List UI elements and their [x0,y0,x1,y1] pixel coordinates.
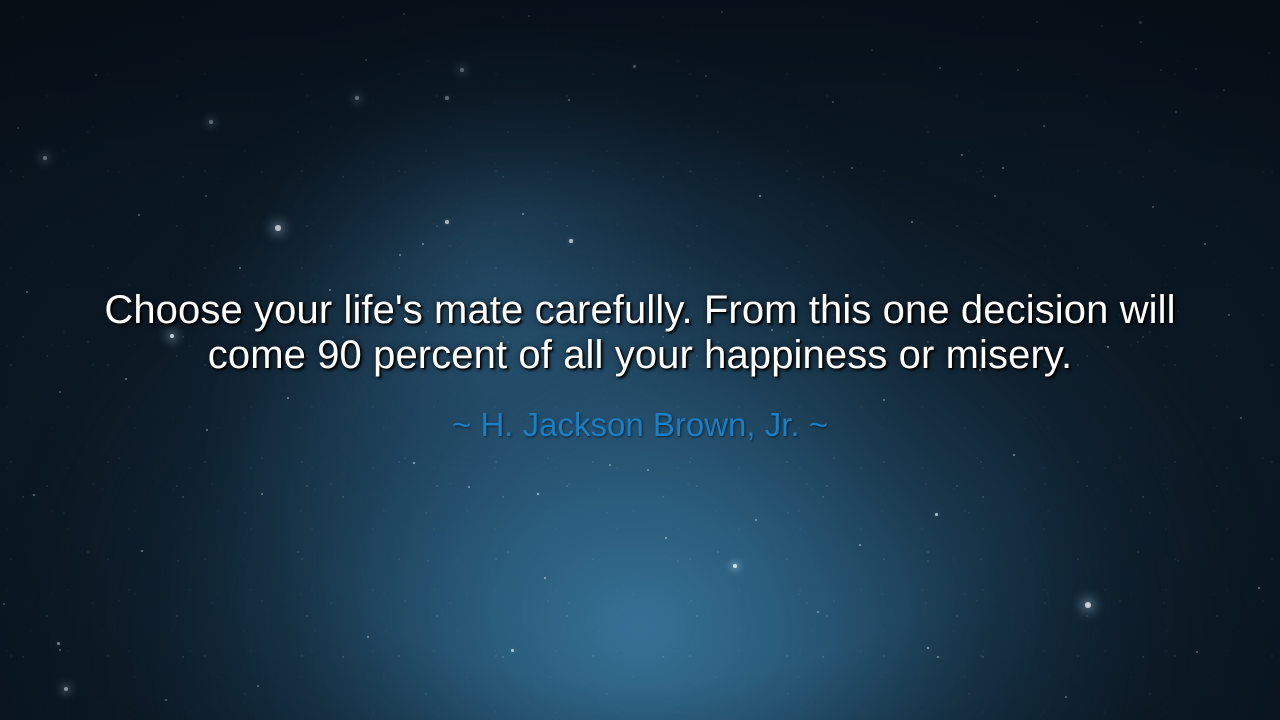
quote-text-block: Choose your life's mate carefully. From … [0,288,1280,378]
wallpaper-quote-scene: Choose your life's mate carefully. From … [0,0,1280,720]
quote-line-1: Choose your life's mate carefully. From … [0,288,1280,333]
quote-attribution: ~ H. Jackson Brown, Jr. ~ [0,405,1280,445]
quote-line-2: come 90 percent of all your happiness or… [0,333,1280,378]
